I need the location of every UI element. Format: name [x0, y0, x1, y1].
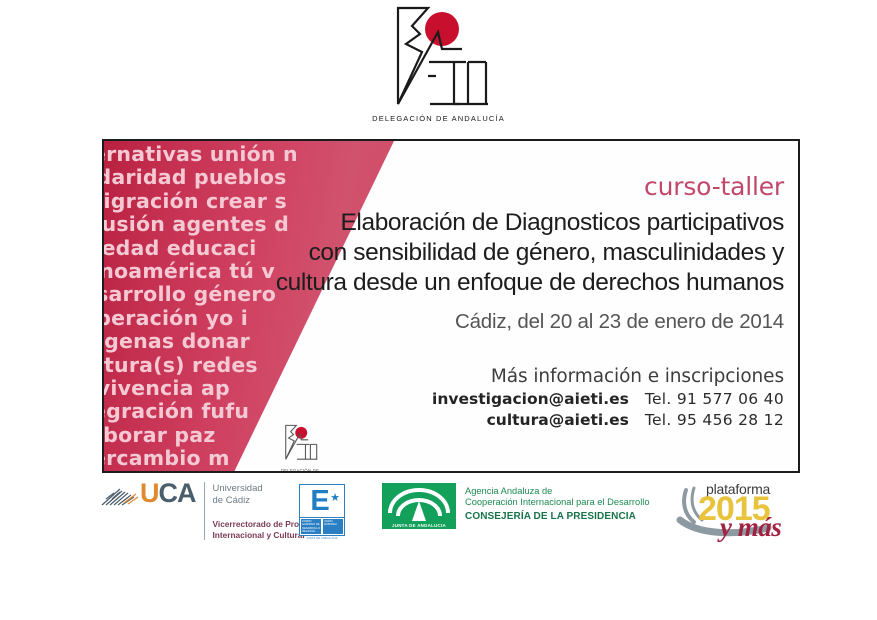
aieti-logo-mark — [376, 4, 501, 112]
aieti-small-letters-icon — [297, 444, 318, 459]
poster-content: curso-taller Elaboración de Diagnosticos… — [238, 141, 798, 471]
contact-phone: Tel. 91 577 06 40 — [645, 390, 784, 408]
contact-email[interactable]: cultura@aieti.es — [487, 411, 629, 429]
poster-title-block: Elaboración de Diagnosticos participativ… — [238, 208, 784, 298]
logo-plataforma-2015: plataforma 2015 y más — [672, 476, 812, 542]
e-logo-top: E ★ — [300, 485, 344, 517]
uca-wordmark: UCA — [140, 480, 196, 507]
e-logo-panel-left: FONDO EUROPEO DE DESARROLLO REGIONAL — [301, 519, 321, 534]
aieti-red-dot-icon — [425, 12, 459, 46]
aieti-small-red-dot-icon — [295, 427, 307, 439]
uca-letters-ca: CA — [159, 478, 196, 508]
poster-kicker: curso-taller — [238, 172, 784, 201]
junta-text-block: Agencia Andaluza de Cooperación Internac… — [465, 483, 650, 522]
uca-wheat-icon — [100, 483, 140, 509]
poster-title-line-2: con sensibilidad de género, masculinidad… — [238, 238, 784, 268]
contact-row: investigacion@aieti.es Tel. 91 577 06 40 — [238, 390, 784, 408]
aieti-crossbar-icon — [428, 62, 466, 76]
aieti-letter-n-icon — [468, 62, 486, 104]
contact-heading: Más información e inscripciones — [238, 366, 784, 387]
junta-line-3: CONSEJERÍA DE LA PRESIDENCIA — [465, 511, 650, 522]
junta-mark: JUNTA DE ANDALUCIA — [382, 483, 456, 529]
logo-junta-andalucia: JUNTA DE ANDALUCIA Agencia Andaluza de C… — [382, 483, 650, 529]
aieti-letter-i-icon — [454, 62, 460, 104]
e-logo-letter: E — [310, 487, 329, 516]
junta-line-2: Cooperación Internacional para el Desarr… — [465, 497, 650, 508]
poster-title-line-1: Elaboración de Diagnosticos participativ… — [238, 208, 784, 238]
e-logo-frame: E ★ FONDO EUROPEO DE DESARROLLO REGIONAL… — [299, 484, 345, 536]
contact-phone: Tel. 95 456 28 12 — [645, 411, 784, 429]
contact-email[interactable]: investigacion@aieti.es — [432, 390, 629, 408]
junta-mark-label: JUNTA DE ANDALUCIA — [382, 523, 456, 530]
aieti-header-logo: DELEGACIÓN DE ANDALUCÍA — [0, 4, 877, 134]
poster-aieti-small-logo: DELEGACIÓN DE ANDALUCÍA — [276, 424, 324, 468]
event-poster: ternativas unión nlidaridad pueblosmigra… — [102, 139, 800, 473]
aieti-logo-svg — [376, 4, 501, 112]
logo-european-funds: E ★ FONDO EUROPEO DE DESARROLLO REGIONAL… — [299, 484, 345, 536]
poster-date-line: Cádiz, del 20 al 23 de enero de 2014 — [238, 310, 784, 334]
logo-uca: UCA Universidad de Cádiz Vicerrectorado … — [100, 480, 330, 540]
plataforma-suffix: y más — [720, 512, 781, 543]
aieti-small-logo-svg — [276, 424, 324, 462]
uca-letter-u: U — [140, 478, 159, 508]
uca-divider — [204, 482, 205, 540]
footer-sponsors: UCA Universidad de Cádiz Vicerrectorado … — [0, 476, 877, 546]
poster-title-line-3: cultura desde un enfoque de derechos hum… — [238, 268, 784, 298]
e-logo-footer-text: JUNTA DE ANDALUCIA — [299, 537, 345, 540]
star-icon: ★ — [330, 491, 340, 504]
poster-contact-block: Más información e inscripciones investig… — [238, 366, 784, 429]
poster-aieti-small-caption: DELEGACIÓN DE ANDALUCÍA — [276, 468, 324, 473]
e-logo-bottom-panels: FONDO EUROPEO DE DESARROLLO REGIONAL UNI… — [300, 517, 344, 535]
junta-line-1: Agencia Andaluza de — [465, 486, 650, 497]
aieti-header-caption: DELEGACIÓN DE ANDALUCÍA — [372, 114, 505, 123]
e-logo-panel-right: UNIÓN EUROPEA — [323, 519, 343, 534]
